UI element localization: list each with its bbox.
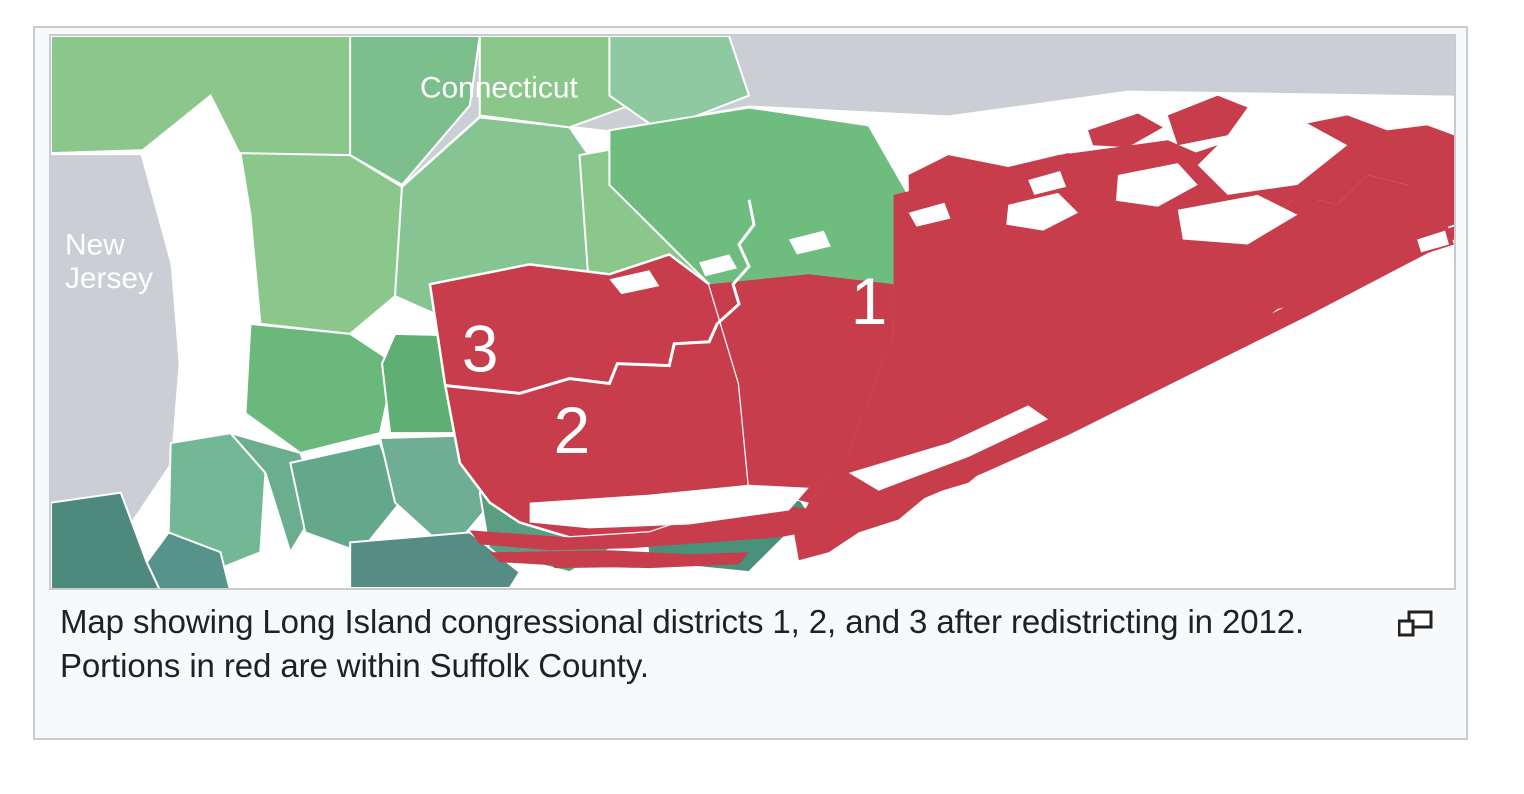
label-district-1: 1 [851, 265, 888, 338]
image-thumbnail-frame: Connecticut New Jersey 1 2 3 Map showing… [33, 26, 1468, 740]
label-district-3: 3 [462, 313, 499, 386]
long-island-congressional-district-map: Connecticut New Jersey 1 2 3 [51, 36, 1454, 588]
image-caption: Map showing Long Island congressional di… [60, 600, 1400, 688]
label-connecticut: Connecticut [420, 72, 579, 105]
enlarge-icon[interactable] [1398, 610, 1434, 640]
label-district-2: 2 [554, 394, 591, 467]
map-image-container[interactable]: Connecticut New Jersey 1 2 3 [49, 34, 1456, 590]
svg-text:Jersey: Jersey [65, 262, 153, 295]
svg-text:New: New [65, 228, 125, 261]
